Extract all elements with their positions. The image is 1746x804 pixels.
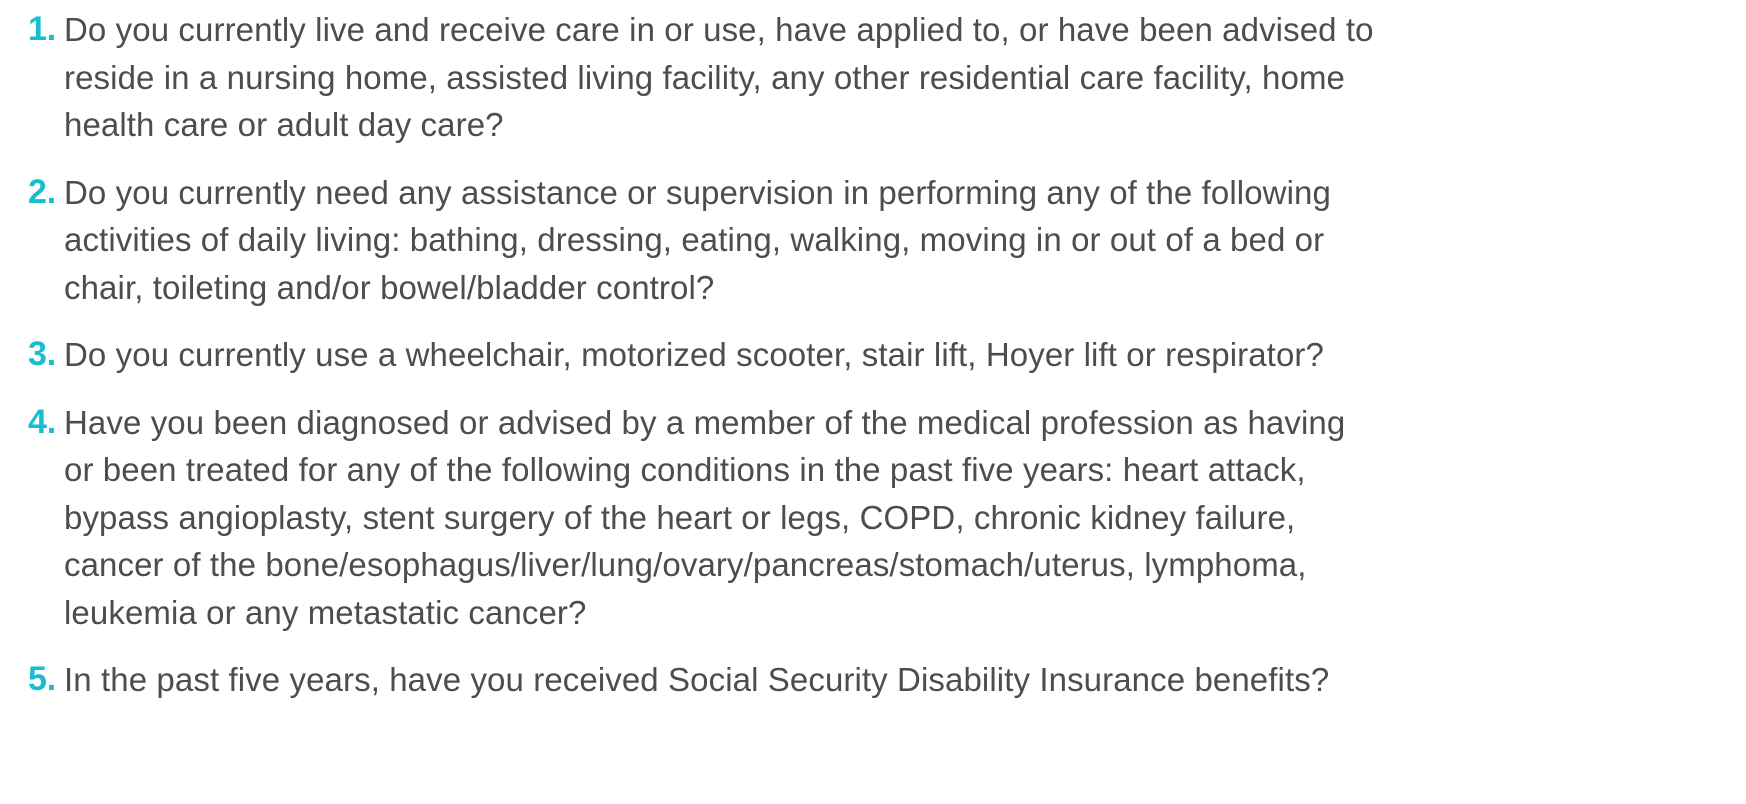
- list-item: 5. In the past five years, have you rece…: [0, 656, 1746, 704]
- question-number-3: 3.: [28, 331, 64, 379]
- question-number-4: 4.: [28, 399, 64, 447]
- question-line: Do you currently use a wheelchair, motor…: [64, 331, 1740, 379]
- question-line: Do you currently need any assistance or …: [64, 169, 1740, 217]
- question-number-2: 2.: [28, 169, 64, 217]
- question-line: or been treated for any of the following…: [64, 446, 1740, 494]
- question-number-5: 5.: [28, 656, 64, 704]
- question-line: reside in a nursing home, assisted livin…: [64, 54, 1740, 102]
- list-item: 1. Do you currently live and receive car…: [0, 6, 1746, 149]
- question-number-1: 1.: [28, 6, 64, 54]
- question-text-2: Do you currently need any assistance or …: [64, 169, 1746, 312]
- question-text-4: Have you been diagnosed or advised by a …: [64, 399, 1746, 637]
- questionnaire-list: 1. Do you currently live and receive car…: [0, 0, 1746, 804]
- question-line: chair, toileting and/or bowel/bladder co…: [64, 264, 1740, 312]
- list-item: 4. Have you been diagnosed or advised by…: [0, 399, 1746, 637]
- question-line: In the past five years, have you receive…: [64, 656, 1740, 704]
- list-item: 2. Do you currently need any assistance …: [0, 169, 1746, 312]
- question-line: cancer of the bone/esophagus/liver/lung/…: [64, 541, 1740, 589]
- question-line: leukemia or any metastatic cancer?: [64, 589, 1740, 637]
- question-line: Have you been diagnosed or advised by a …: [64, 399, 1740, 447]
- question-line: bypass angioplasty, stent surgery of the…: [64, 494, 1740, 542]
- question-text-3: Do you currently use a wheelchair, motor…: [64, 331, 1746, 379]
- question-line: activities of daily living: bathing, dre…: [64, 216, 1740, 264]
- question-line: Do you currently live and receive care i…: [64, 6, 1740, 54]
- question-line: health care or adult day care?: [64, 101, 1740, 149]
- list-item: 3. Do you currently use a wheelchair, mo…: [0, 331, 1746, 379]
- question-text-5: In the past five years, have you receive…: [64, 656, 1746, 704]
- question-text-1: Do you currently live and receive care i…: [64, 6, 1746, 149]
